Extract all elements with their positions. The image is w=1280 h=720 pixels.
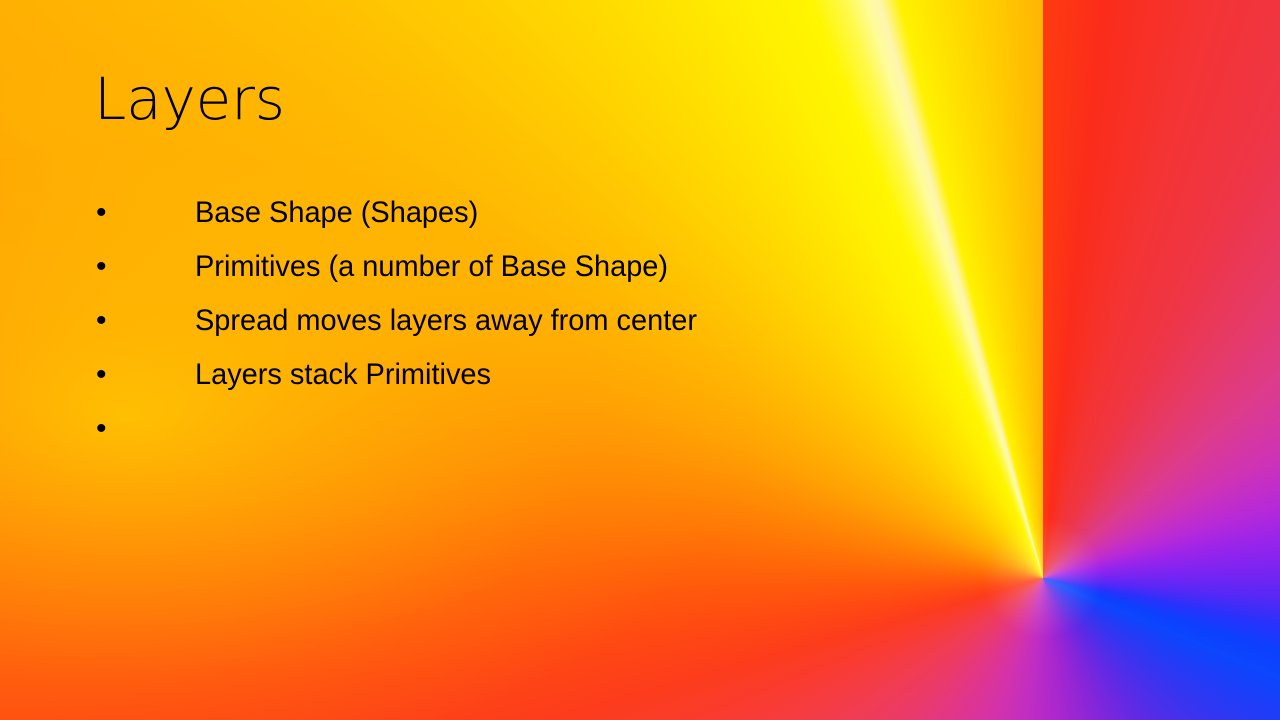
list-item-label: Primitives (a number of Base Shape) [195, 246, 668, 288]
bullet-point-icon: • [96, 408, 195, 450]
list-item-label: Spread moves layers away from center [195, 300, 697, 342]
list-item: • Layers stack Primitives [96, 354, 1096, 408]
list-item: • Primitives (a number of Base Shape) [96, 246, 1096, 300]
bullet-point-icon: • [96, 246, 195, 288]
bullet-point-icon: • [96, 300, 195, 342]
slide-canvas: Layers • Base Shape (Shapes) • Primitive… [0, 0, 1280, 720]
bullet-list: • Base Shape (Shapes) • Primitives (a nu… [96, 192, 1096, 462]
list-item: • Base Shape (Shapes) [96, 192, 1096, 246]
slide-content: Layers • Base Shape (Shapes) • Primitive… [0, 0, 1280, 720]
page-title: Layers [94, 68, 285, 132]
list-item-label: Layers stack Primitives [195, 354, 491, 396]
bullet-point-icon: • [96, 192, 195, 234]
list-item: • Spread moves layers away from center [96, 300, 1096, 354]
list-item: • [96, 408, 1096, 462]
bullet-point-icon: • [96, 354, 195, 396]
list-item-label: Base Shape (Shapes) [195, 192, 478, 234]
